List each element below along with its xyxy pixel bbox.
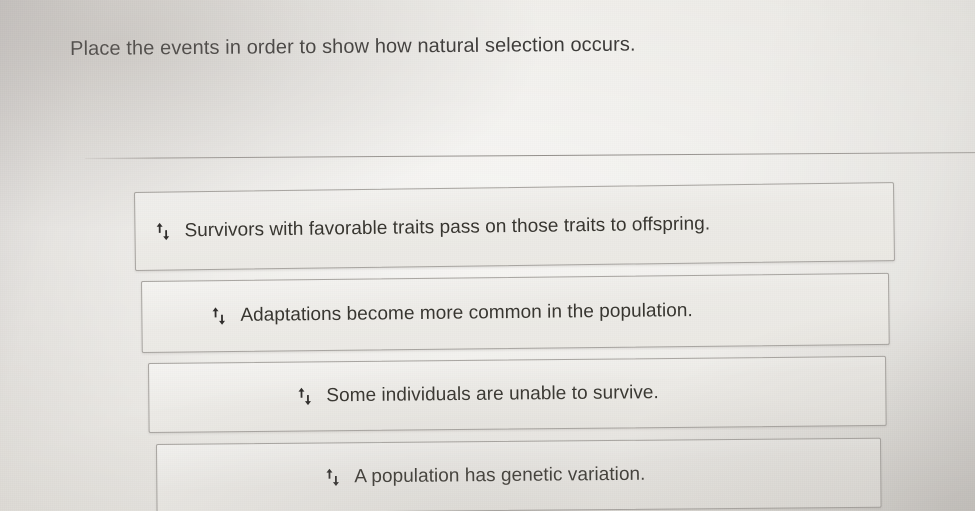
list-item-label: Some individuals are unable to survive. <box>326 382 659 407</box>
sort-updown-icon[interactable] <box>210 306 227 326</box>
sort-updown-icon[interactable] <box>154 221 171 241</box>
list-item[interactable]: Some individuals are unable to survive. <box>148 356 887 433</box>
sort-updown-icon[interactable] <box>324 467 341 487</box>
sortable-list: Survivors with favorable traits pass on … <box>0 0 975 511</box>
sort-updown-icon[interactable] <box>296 386 313 406</box>
list-item-label: Survivors with favorable traits pass on … <box>184 213 710 242</box>
question-screen: Place the events in order to show how na… <box>0 0 975 511</box>
list-item[interactable]: A population has genetic variation. <box>156 438 882 511</box>
list-item[interactable]: Adaptations become more common in the po… <box>141 273 890 353</box>
list-item-label: A population has genetic variation. <box>354 464 645 489</box>
list-item[interactable]: Survivors with favorable traits pass on … <box>134 182 895 271</box>
list-item-label: Adaptations become more common in the po… <box>240 300 693 327</box>
